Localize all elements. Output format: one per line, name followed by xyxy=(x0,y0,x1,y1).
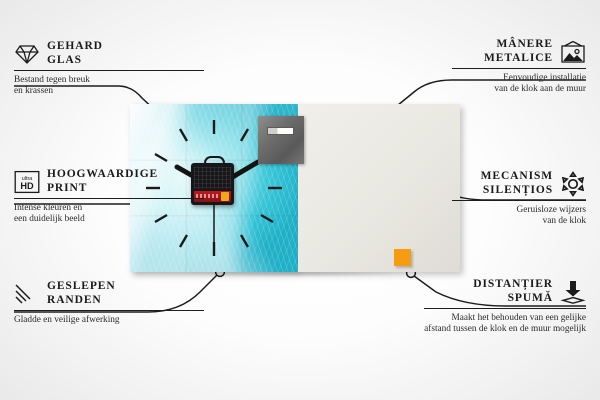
feature-title: GEHARD GLAS xyxy=(47,40,103,67)
wall-picture-hanger-icon xyxy=(560,40,586,64)
feature-heading: DISTANȚIER SPUMĂ xyxy=(424,278,586,305)
heading-rule xyxy=(14,310,204,311)
feature-description: Gladde en veilige afwerking xyxy=(14,315,204,326)
metal-hanger-plate xyxy=(258,116,304,164)
diamond-icon xyxy=(14,42,40,66)
feature-mecanism-silentios: MECANISM SILENȚIOS Geruisloze wijzers va… xyxy=(452,170,586,228)
feature-description: Eenvoudige installatie van de klok aan d… xyxy=(452,73,586,96)
feature-gehard-glas: GEHARD GLAS Bestand tegen breuk en krass… xyxy=(14,40,204,98)
feature-title: MÂNERE METALICE xyxy=(484,38,553,65)
feature-description: Geruisloze wijzers van de klok xyxy=(452,205,586,228)
heading-rule xyxy=(424,308,586,309)
feature-heading: MECANISM SILENȚIOS xyxy=(452,170,586,197)
infographic-canvas: GEHARD GLAS Bestand tegen breuk en krass… xyxy=(0,0,600,400)
feature-heading: GEHARD GLAS xyxy=(14,40,204,67)
feature-description: Bestand tegen breuk en krassen xyxy=(14,75,204,98)
feature-description: Intense kleuren en een duidelijk beeld xyxy=(14,203,204,226)
feature-heading: MÂNERE METALICE xyxy=(452,38,586,65)
bevelled-edges-icon xyxy=(14,282,40,306)
feature-geslepen-randen: GESLEPEN RANDEN Gladde en veilige afwerk… xyxy=(14,280,204,326)
hanger-slot xyxy=(267,127,294,135)
feature-title: HOOGWAARDIGE PRINT xyxy=(47,168,158,195)
svg-text:HD: HD xyxy=(20,181,34,191)
clock-back-panel xyxy=(298,104,460,272)
feature-title: DISTANȚIER SPUMĂ xyxy=(473,278,553,305)
battery-plus-terminal xyxy=(221,192,229,201)
gear-icon xyxy=(560,172,586,196)
feature-hoogwaardige-print: ultra HD HOOGWAARDIGE PRINT Intense kleu… xyxy=(14,168,204,226)
feature-manere-metalice: MÂNERE METALICE Eenvoudige installatie v… xyxy=(452,38,586,96)
feature-description: Maakt het behouden van een gelijke afsta… xyxy=(424,313,586,336)
heading-rule xyxy=(452,200,586,201)
heading-rule xyxy=(14,70,204,71)
orange-foam-spacer xyxy=(394,249,411,266)
feature-heading: GESLEPEN RANDEN xyxy=(14,280,204,307)
feature-heading: ultra HD HOOGWAARDIGE PRINT xyxy=(14,168,204,195)
heading-rule xyxy=(452,68,586,69)
feature-title: GESLEPEN RANDEN xyxy=(47,280,116,307)
heading-rule xyxy=(14,198,204,199)
ultra-hd-icon: ultra HD xyxy=(14,170,40,194)
feature-distantier-spuma: DISTANȚIER SPUMĂ Maakt het behouden van … xyxy=(424,278,586,336)
spacer-down-arrow-icon xyxy=(560,280,586,304)
feature-title: MECANISM SILENȚIOS xyxy=(481,170,553,197)
